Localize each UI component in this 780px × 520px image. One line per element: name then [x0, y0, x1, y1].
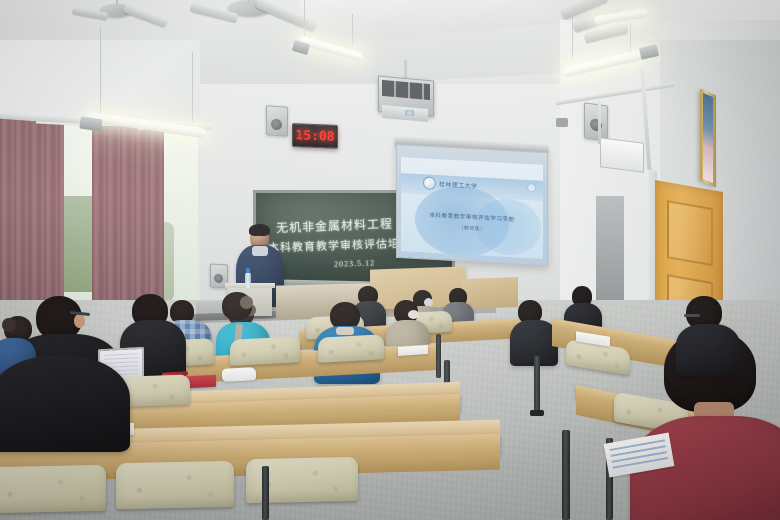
fan-rod	[116, 0, 118, 6]
seatback-foreground[interactable]	[0, 465, 106, 514]
blackboard-date: 2023.5.12	[334, 258, 375, 268]
logo-text: 桂林理工大学	[439, 179, 477, 190]
led-wall-clock: 15:08	[292, 123, 338, 149]
clock-time-display: 15:08	[295, 128, 334, 145]
desk-leg-foreground	[262, 466, 269, 520]
booklet-text-lines	[610, 439, 669, 468]
seatback-foreground[interactable]	[116, 461, 234, 509]
speaker-cone	[214, 274, 223, 283]
seatback-row-middle[interactable]	[230, 336, 300, 366]
lamp-wire	[100, 28, 101, 120]
speaker-cone	[271, 119, 282, 131]
lamp-wire	[192, 52, 193, 122]
conduit-pipe-drop	[598, 98, 601, 144]
attendee-ear	[74, 314, 85, 328]
desk-leg-foot	[530, 410, 544, 416]
wall-speaker-right	[584, 102, 608, 141]
tissue[interactable]	[222, 367, 256, 382]
desk-leg-foreground	[562, 430, 570, 520]
glasses-icon	[684, 314, 700, 317]
attendee-collar	[336, 327, 354, 335]
door-panel-upper	[667, 200, 713, 266]
fan-rod	[248, 0, 250, 4]
framed-wall-portrait	[700, 89, 716, 188]
slide-corner-badge-icon	[527, 183, 536, 192]
attendee-hair-bun	[240, 296, 253, 309]
presenter-hair	[249, 224, 270, 236]
attendee-hair-tie-icon	[408, 310, 419, 319]
attendee-torso	[676, 324, 740, 376]
logo-mark-icon	[423, 176, 436, 190]
attendee-hair-bun	[2, 318, 16, 332]
water-bottle[interactable]	[245, 272, 251, 288]
desk-leg	[436, 334, 441, 378]
projection-screen: 桂林理工大学 本科教育教学审核评估学习手册 （教师版）	[396, 144, 548, 266]
bottle-cap	[246, 268, 250, 273]
back-doorway	[596, 196, 624, 316]
projector-lens-icon	[405, 110, 414, 116]
seatback-row-middle[interactable]	[318, 334, 384, 362]
electrical-panel[interactable]	[600, 137, 644, 172]
lamp-wire	[572, 6, 573, 58]
presentation-slide: 桂林理工大学 本科教育教学审核评估学习手册 （教师版）	[401, 157, 543, 259]
portrait-image	[703, 93, 713, 183]
desk-leg	[534, 356, 540, 414]
cardboard-box-small	[462, 277, 518, 309]
lamp-wire	[352, 14, 353, 46]
wall-speaker-left	[266, 105, 288, 137]
classroom-photo: 无机非金属材料工程 本科教育教学审核评估培训会 2023.5.12 桂林理工大学…	[0, 0, 780, 520]
wall-camera-icon	[556, 118, 568, 127]
attendee-shoulder-mass	[0, 356, 130, 452]
presenter-collar	[252, 246, 268, 256]
blackboard-heading: 无机非金属材料工程	[276, 215, 394, 236]
